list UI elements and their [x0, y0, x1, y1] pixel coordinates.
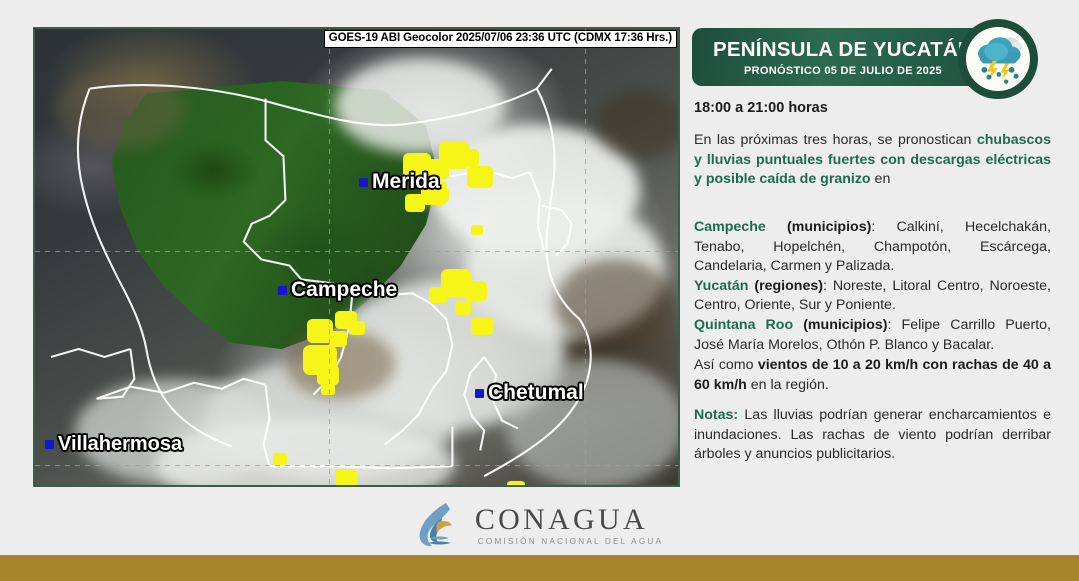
intro-tail-text: en [871, 171, 891, 187]
graticule-line-vertical [585, 29, 586, 485]
satellite-timestamp-label: GOES-19 ABI Geocolor 2025/07/06 23:36 UT… [324, 30, 677, 48]
region-separator: : [888, 317, 902, 333]
city-label-chetumal: Chetumal [488, 381, 584, 405]
wind-forecast-paragraph: Así como vientos de 10 a 20 km/h con rac… [694, 356, 1051, 395]
thunderstorm-hail-icon [958, 19, 1038, 99]
satellite-image-panel[interactable]: GOES-19 ABI Geocolor 2025/07/06 23:36 UT… [33, 27, 680, 487]
affected-regions-paragraph: Campeche (municipios): Calkiní, Hecelcha… [694, 218, 1051, 355]
title-banner: PENÍNSULA DE YUCATÁN PRONÓSTICO 05 DE JU… [692, 28, 988, 86]
city-label-campeche: Campeche [291, 278, 397, 302]
notes-paragraph: Notas: Las lluvias podrían generar encha… [694, 406, 1051, 465]
notes-text: Las lluvias podrían generar encharcamien… [694, 407, 1051, 462]
region-places-yucatan: Noreste, Litoral Centro, Noroeste, Centr… [694, 278, 1051, 314]
logo-wordmark: CONAGUA [475, 504, 663, 536]
region-kind-quintana-roo: (municipios) [803, 317, 887, 333]
graticule-line-horizontal [35, 251, 678, 252]
forecast-date-subtitle: PRONÓSTICO 05 DE JULIO DE 2025 [744, 65, 942, 77]
graticule-line-horizontal [35, 465, 678, 466]
region-state-yucatan: Yucatán [694, 278, 748, 294]
forecast-time-range: 18:00 a 21:00 horas [694, 100, 828, 116]
city-marker-chetumal: Chetumal [475, 381, 584, 405]
region-state-quintana-roo: Quintana Roo [694, 317, 793, 333]
city-marker-campeche: Campeche [278, 278, 397, 302]
city-label-merida: Merida [372, 170, 440, 194]
water-drop-eagle-icon [416, 500, 462, 550]
region-kind-campeche: (municipios) [787, 219, 871, 235]
region-separator: : [823, 278, 833, 294]
page-title: PENÍNSULA DE YUCATÁN [713, 38, 973, 62]
city-dot-icon [475, 389, 484, 398]
notes-label: Notas: [694, 407, 738, 423]
wind-tail-text: en la región. [747, 377, 829, 393]
wind-lead-text: Así como [694, 357, 758, 373]
city-dot-icon [359, 178, 368, 187]
city-marker-merida: Merida [359, 170, 440, 194]
graticule-line-vertical [329, 29, 330, 485]
conagua-logo: CONAGUA COMISIÓN NACIONAL DEL AGUA [0, 494, 1079, 556]
forecast-intro-paragraph: En las próximas tres horas, se pronostic… [694, 131, 1051, 190]
region-state-campeche: Campeche [694, 219, 766, 235]
bottom-color-bar [0, 555, 1079, 581]
city-dot-icon [45, 440, 54, 449]
city-dot-icon [278, 286, 287, 295]
precipitation-cells-layer [35, 29, 678, 485]
intro-lead-text: En las próximas tres horas, se pronostic… [694, 132, 977, 148]
city-label-villahermosa: Villahermosa [58, 433, 182, 456]
region-separator: : [871, 219, 896, 235]
city-marker-villahermosa: Villahermosa [45, 433, 182, 456]
logo-tagline: COMISIÓN NACIONAL DEL AGUA [475, 537, 663, 546]
forecast-info-panel: PENÍNSULA DE YUCATÁN PRONÓSTICO 05 DE JU… [690, 0, 1079, 498]
region-kind-yucatan: (regiones) [754, 278, 823, 294]
